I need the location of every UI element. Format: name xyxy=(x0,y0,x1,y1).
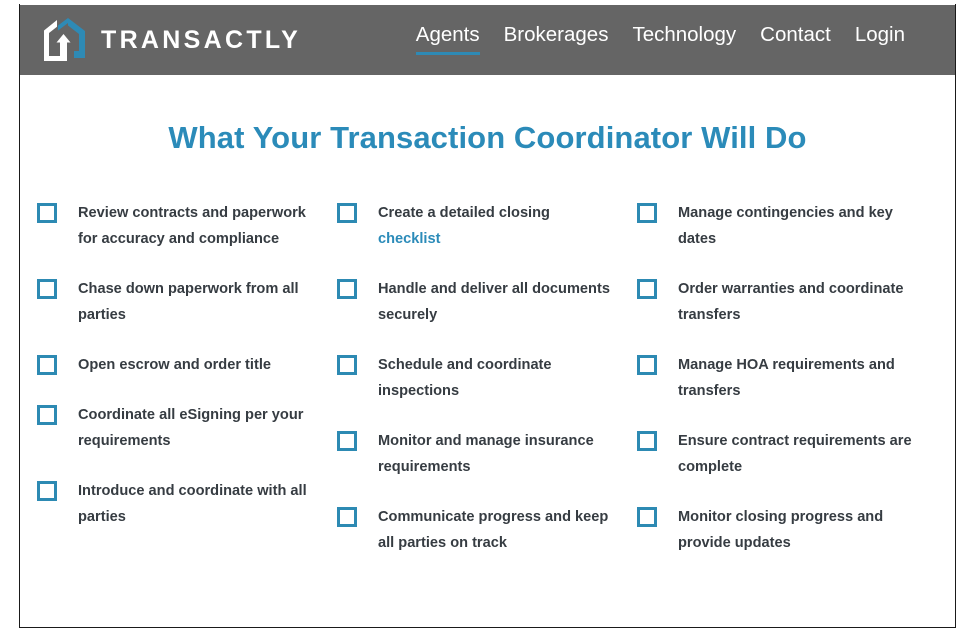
checkbox-icon[interactable] xyxy=(337,355,357,375)
checkbox-icon[interactable] xyxy=(637,203,657,223)
checkbox-icon[interactable] xyxy=(37,355,57,375)
checkbox-icon[interactable] xyxy=(37,405,57,425)
list-item[interactable]: Coordinate all eSigning per your require… xyxy=(37,402,337,454)
checkbox-icon[interactable] xyxy=(337,507,357,527)
list-item-label: Open escrow and order title xyxy=(78,352,271,378)
page-title: What Your Transaction Coordinator Will D… xyxy=(20,75,955,156)
list-item[interactable]: Communicate progress and keep all partie… xyxy=(337,504,637,556)
list-item-label: Handle and deliver all documents securel… xyxy=(378,276,614,328)
house-arrow-logo-icon xyxy=(38,16,88,64)
list-item-label: Chase down paperwork from all parties xyxy=(78,276,314,328)
list-item-label: Communicate progress and keep all partie… xyxy=(378,504,614,556)
checklist-column-1: Review contracts and paperwork for accur… xyxy=(37,200,337,580)
checkbox-icon[interactable] xyxy=(37,481,57,501)
list-item[interactable]: Manage contingencies and key dates xyxy=(637,200,937,252)
list-item[interactable]: Handle and deliver all documents securel… xyxy=(337,276,637,328)
checklist-grid: Review contracts and paperwork for accur… xyxy=(20,156,955,580)
checklist-column-3: Manage contingencies and key dates Order… xyxy=(637,200,937,580)
checkbox-icon[interactable] xyxy=(37,203,57,223)
list-item-label: Manage contingencies and key dates xyxy=(678,200,914,252)
checkbox-icon[interactable] xyxy=(637,507,657,527)
list-item-label: Manage HOA requirements and transfers xyxy=(678,352,914,404)
list-item-text: Create a detailed closing xyxy=(378,205,550,221)
list-item-label: Review contracts and paperwork for accur… xyxy=(78,200,314,252)
list-item-label: Ensure contract requirements are complet… xyxy=(678,428,914,480)
nav-item-agents[interactable]: Agents xyxy=(416,25,480,55)
main-navigation: Agents Brokerages Technology Contact Log… xyxy=(416,25,933,55)
page-root: TRANSACTLY Agents Brokerages Technology … xyxy=(0,0,963,636)
list-item[interactable]: Chase down paperwork from all parties xyxy=(37,276,337,328)
list-item[interactable]: Open escrow and order title xyxy=(37,352,337,378)
brand-name: TRANSACTLY xyxy=(101,28,301,53)
brand-logo-link[interactable]: TRANSACTLY xyxy=(38,16,301,64)
site-header: TRANSACTLY Agents Brokerages Technology … xyxy=(20,5,955,75)
checklist-link[interactable]: checklist xyxy=(378,231,440,247)
list-item-label: Coordinate all eSigning per your require… xyxy=(78,402,314,454)
nav-item-login[interactable]: Login xyxy=(855,25,905,55)
list-item-label: Schedule and coordinate inspections xyxy=(378,352,614,404)
list-item-label: Introduce and coordinate with all partie… xyxy=(78,478,314,530)
list-item[interactable]: Schedule and coordinate inspections xyxy=(337,352,637,404)
list-item[interactable]: Monitor closing progress and provide upd… xyxy=(637,504,937,556)
checkbox-icon[interactable] xyxy=(637,279,657,299)
list-item[interactable]: Create a detailed closing checklist xyxy=(337,200,637,252)
checkbox-icon[interactable] xyxy=(337,203,357,223)
checkbox-icon[interactable] xyxy=(337,279,357,299)
checkbox-icon[interactable] xyxy=(337,431,357,451)
list-item[interactable]: Review contracts and paperwork for accur… xyxy=(37,200,337,252)
list-item[interactable]: Monitor and manage insurance requirement… xyxy=(337,428,637,480)
list-item[interactable]: Introduce and coordinate with all partie… xyxy=(37,478,337,530)
checklist-column-2: Create a detailed closing checklist Hand… xyxy=(337,200,637,580)
list-item[interactable]: Manage HOA requirements and transfers xyxy=(637,352,937,404)
list-item-label: Monitor and manage insurance requirement… xyxy=(378,428,614,480)
checkbox-icon[interactable] xyxy=(637,355,657,375)
nav-item-brokerages[interactable]: Brokerages xyxy=(504,25,609,55)
list-item-label: Monitor closing progress and provide upd… xyxy=(678,504,914,556)
checkbox-icon[interactable] xyxy=(637,431,657,451)
nav-item-technology[interactable]: Technology xyxy=(632,25,736,55)
main-content: What Your Transaction Coordinator Will D… xyxy=(20,75,955,627)
list-item[interactable]: Ensure contract requirements are complet… xyxy=(637,428,937,480)
list-item-label: Order warranties and coordinate transfer… xyxy=(678,276,914,328)
checkbox-icon[interactable] xyxy=(37,279,57,299)
list-item[interactable]: Order warranties and coordinate transfer… xyxy=(637,276,937,328)
nav-item-contact[interactable]: Contact xyxy=(760,25,831,55)
list-item-label: Create a detailed closing checklist xyxy=(378,200,614,252)
